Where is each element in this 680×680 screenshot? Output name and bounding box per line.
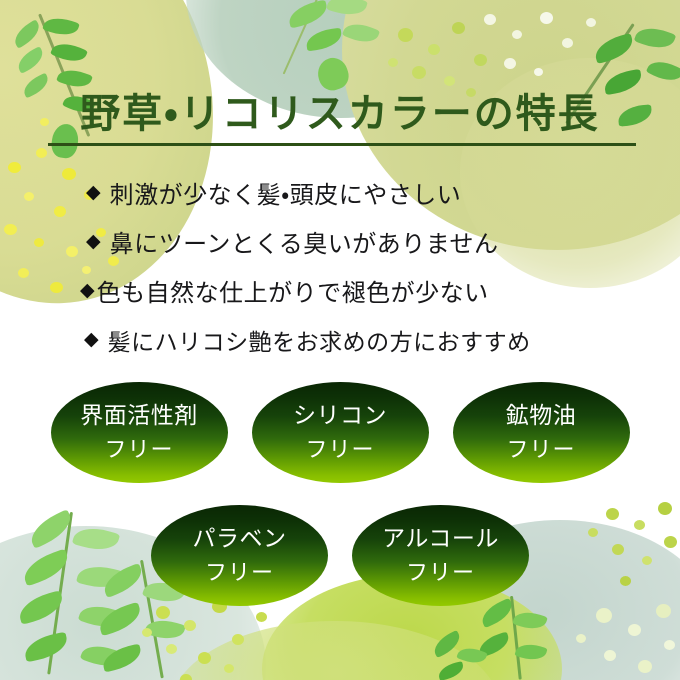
feature-text-1: 刺激が少なく髪・頭皮にやさしい — [110, 175, 462, 210]
badge-sub-label: フリー — [305, 439, 374, 461]
diamond-bullet-icon: ◆ — [80, 281, 95, 300]
diamond-bullet-icon: ◆ — [86, 183, 101, 202]
feature-text-2: 鼻にツーンとくる臭いがありません — [110, 224, 499, 259]
free-badge-row-1: 界面活性剤 フリー シリコン フリー 鉱物油 フリー — [0, 382, 680, 483]
blob-bottom-center-lime — [170, 621, 500, 680]
badge-sub-label: フリー — [205, 562, 274, 584]
feature-item-3: ◆ 色も自然な仕上がりで褪色が少ない — [0, 266, 680, 315]
badge-main-label: パラベン — [193, 527, 287, 550]
page-title: 野草・リコリスカラーの特長 — [74, 92, 606, 144]
feature-item-2: ◆ 鼻にツーンとくる臭いがありません — [0, 217, 680, 266]
title-underline — [48, 143, 636, 146]
infographic-page: 野草・リコリスカラーの特長 ◆ 刺激が少なく髪・頭皮にやさしい ◆ 鼻にツーンと… — [0, 0, 680, 680]
badge-silicone-free: シリコン フリー — [252, 382, 429, 483]
badge-sub-label: フリー — [104, 439, 173, 461]
badge-main-label: シリコン — [293, 404, 387, 427]
badge-sub-label: フリー — [506, 439, 575, 461]
badge-sub-label: フリー — [406, 562, 475, 584]
badge-alcohol-free: アルコール フリー — [352, 505, 529, 606]
badge-paraben-free: パラベン フリー — [151, 505, 328, 606]
feature-item-4: ◆ 髪にハリコシ艶をお求めの方におすすめ — [0, 315, 680, 364]
badge-main-label: 界面活性剤 — [80, 404, 198, 427]
feature-list: ◆ 刺激が少なく髪・頭皮にやさしい ◆ 鼻にツーンとくる臭いがありません ◆ 色… — [0, 168, 680, 364]
free-badge-row-2: パラベン フリー アルコール フリー — [0, 505, 680, 606]
feature-text-4: 髪にハリコシ艶をお求めの方におすすめ — [108, 323, 531, 357]
free-badge-group: 界面活性剤 フリー シリコン フリー 鉱物油 フリー パラベン フリー アルコー… — [0, 382, 680, 606]
badge-mineral-oil-free: 鉱物油 フリー — [453, 382, 630, 483]
badge-main-label: アルコール — [382, 527, 499, 550]
badge-surfactant-free: 界面活性剤 フリー — [51, 382, 228, 483]
feature-item-1: ◆ 刺激が少なく髪・頭皮にやさしい — [0, 168, 680, 217]
diamond-bullet-icon: ◆ — [84, 330, 99, 349]
diamond-bullet-icon: ◆ — [86, 232, 101, 251]
feature-text-3: 色も自然な仕上がりで褪色が少ない — [97, 273, 489, 308]
page-title-block: 野草・リコリスカラーの特長 — [0, 92, 680, 144]
badge-main-label: 鉱物油 — [506, 404, 577, 427]
